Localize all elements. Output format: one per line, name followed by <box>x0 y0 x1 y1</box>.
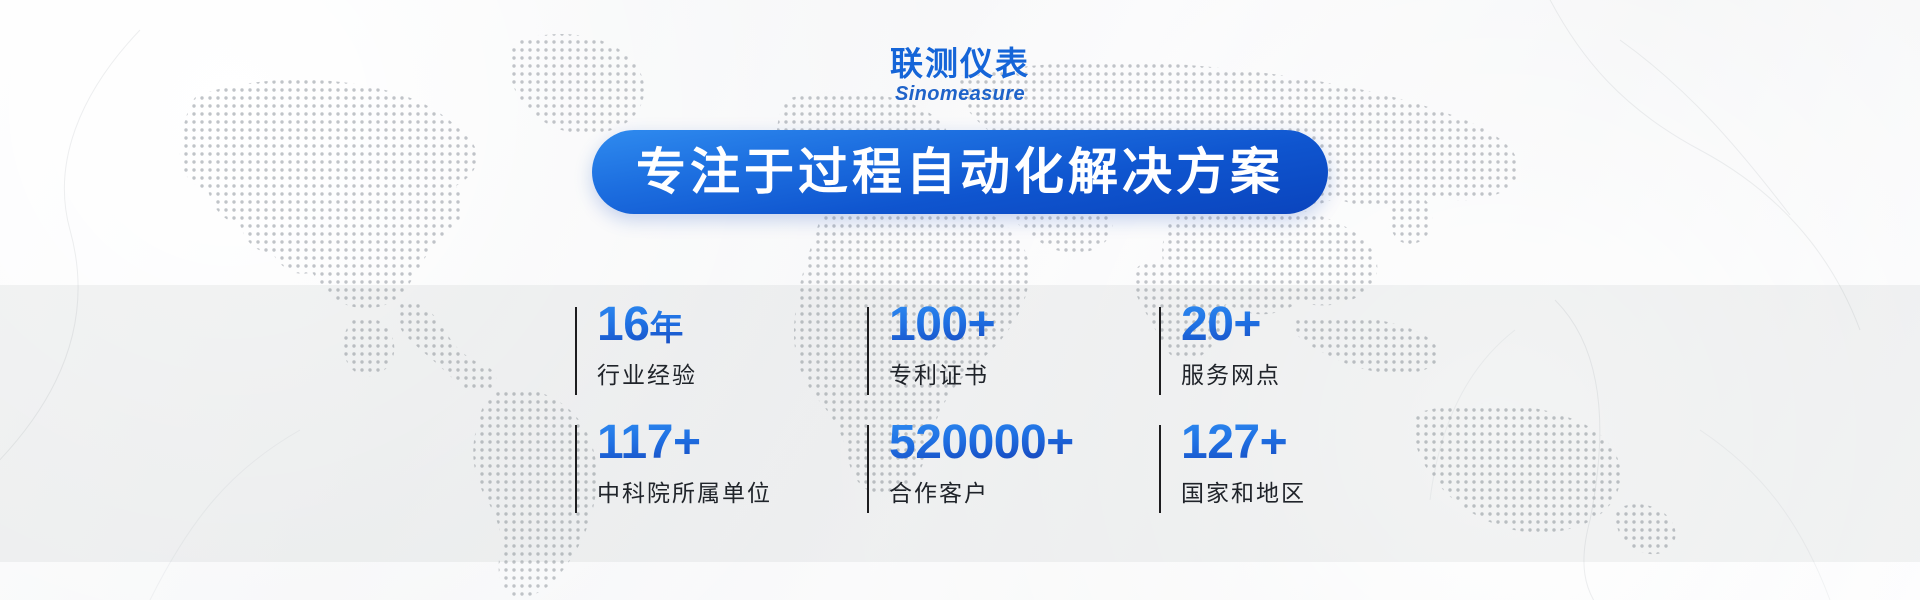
stat-divider-bar <box>1159 307 1161 395</box>
stat-divider-bar <box>575 425 577 513</box>
headline-pill: 专注于过程自动化解决方案 <box>592 130 1328 214</box>
stat-item-patents: 100+ 专利证书 <box>867 300 1159 405</box>
brand-logo: 联测仪表 Sinomeasure <box>0 47 1920 104</box>
stat-item-years-experience: 16年 行业经验 <box>575 300 867 405</box>
stat-value: 16年 <box>597 300 867 350</box>
headline-container: 专注于过程自动化解决方案 <box>0 130 1920 214</box>
stat-item-cas-units: 117+ 中科院所属单位 <box>575 418 867 523</box>
stat-label: 行业经验 <box>597 356 867 390</box>
stat-divider-bar <box>1159 425 1161 513</box>
stats-grid: 16年 行业经验 100+ 专利证书 20+ 服务网点 117+ 中科院所属单位… <box>575 300 1175 523</box>
stat-value: 20+ <box>1181 300 1451 350</box>
stat-value: 520000+ <box>889 418 1159 468</box>
brand-name-cn: 联测仪表 <box>0 47 1920 80</box>
headline-text: 专注于过程自动化解决方案 <box>636 147 1284 197</box>
promo-banner: 联测仪表 Sinomeasure 专注于过程自动化解决方案 16年 行业经验 1… <box>0 0 1920 600</box>
stat-label: 国家和地区 <box>1181 474 1451 508</box>
stat-item-countries: 127+ 国家和地区 <box>1159 418 1451 523</box>
stat-value: 117+ <box>597 418 867 468</box>
stat-divider-bar <box>575 307 577 395</box>
stat-divider-bar <box>867 307 869 395</box>
stat-value: 100+ <box>889 300 1159 350</box>
stat-label: 中科院所属单位 <box>597 474 867 508</box>
stat-item-service-points: 20+ 服务网点 <box>1159 300 1451 405</box>
stat-item-customers: 520000+ 合作客户 <box>867 418 1159 523</box>
stat-value: 127+ <box>1181 418 1451 468</box>
brand-name-en: Sinomeasure <box>0 84 1920 104</box>
stat-label: 合作客户 <box>889 474 1159 508</box>
stat-divider-bar <box>867 425 869 513</box>
stat-label: 专利证书 <box>889 356 1159 390</box>
stat-label: 服务网点 <box>1181 356 1451 390</box>
